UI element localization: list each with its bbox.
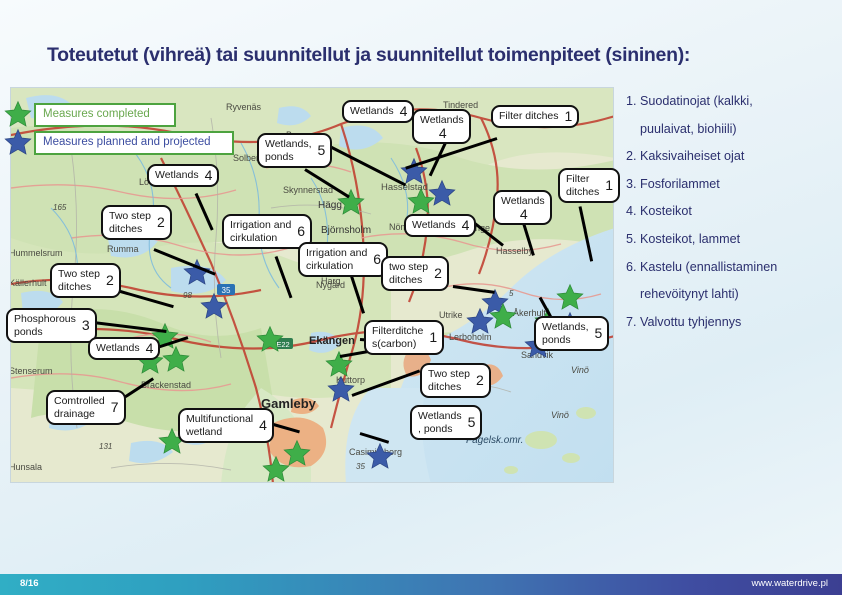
callout-text: Comtrolled drainage [54,395,105,420]
callout-number: 1 [563,110,573,123]
callout-phosphorous-ponds-3[interactable]: Phosphorous ponds 3 [6,308,97,343]
svg-text:Källerhult: Källerhult [11,278,47,288]
callout-number: 4 [398,105,408,118]
footer-bar: 8/16 www.waterdrive.pl [0,574,842,595]
callout-wetlands-ponds-5-b[interactable]: Wetlands, ponds 5 [534,316,609,351]
legend-measures-planned: Measures planned and projected [34,131,234,155]
callout-number: 5 [593,327,603,340]
callout-filterditches-carbon-1[interactable]: Filterditche s(carbon) 1 [364,320,444,355]
callout-text: Wetlands, ponds [542,321,589,346]
measure-number: 4. [626,204,637,218]
svg-text:98: 98 [183,291,192,300]
callout-irrigation-6-b[interactable]: Irrigation and cirkulation 6 [298,242,388,277]
measure-item-4: 4. Kosteikot [626,198,834,226]
callout-two-step-ditches-2-c[interactable]: two step ditches 2 [381,256,449,291]
green-star-marker[interactable] [340,203,368,236]
callout-text: Irrigation and cirkulation [230,219,291,244]
measure-text-cont: rehevöitynyt lahti) [626,281,834,309]
callout-text: Wetlands [350,105,394,118]
measure-item-6: 6. Kastelu (ennallistaminen rehevöitynyt… [626,254,834,309]
callout-number: 2 [104,274,114,287]
callout-text: Two step ditches [109,210,151,235]
callout-wetlands-4-f[interactable]: Wetlands 4 [88,337,160,360]
blue-star-marker[interactable] [200,292,228,325]
measure-item-3: 3. Fosforilammet [626,171,834,199]
callout-filter-ditches-1-a[interactable]: Filter ditches 1 [491,105,579,128]
callout-wetlands-4-b[interactable]: Wetlands 4 [412,109,471,144]
measure-number: 3. [626,177,637,191]
svg-text:Hasselby: Hasselby [496,246,534,256]
callout-number: 4 [437,127,447,140]
measure-number: 1. [626,94,637,108]
callout-wetlands-4-a[interactable]: Wetlands 4 [342,100,414,123]
callout-text: Filterditche s(carbon) [372,325,423,350]
callout-number: 1 [603,179,613,192]
callout-number: 6 [295,225,305,238]
callout-text: Two step ditches [428,368,470,393]
callout-number: 4 [460,219,470,232]
legend-measures-completed: Measures completed [34,103,176,127]
callout-number: 1 [427,331,437,344]
green-star-marker[interactable] [162,345,190,378]
measure-text-cont: puulaivat, biohiili) [626,116,834,144]
measure-text: Kosteikot [640,204,692,218]
callout-number: 4 [203,169,213,182]
callout-filter-ditches-1-b[interactable]: Filter ditches 1 [558,168,620,203]
callout-wetlands-4-c[interactable]: Wetlands 4 [147,164,219,187]
callout-two-step-ditches-2-b[interactable]: Two step ditches 2 [50,263,121,298]
callout-wetlands-ponds-5-c[interactable]: Wetlands , ponds 5 [410,405,482,440]
measure-list: 1. Suodatinojat (kalkki, puulaivat, bioh… [626,88,834,336]
page-title: Toteutetut (vihreä) tai suunnitellut ja … [47,44,807,67]
callout-number: 4 [257,419,267,432]
callout-number: 4 [518,208,528,221]
svg-text:Ryvenäs: Ryvenäs [226,102,262,112]
svg-text:Skynnerstad: Skynnerstad [283,185,333,195]
callout-number: 7 [109,401,119,414]
green-star-marker[interactable] [4,84,32,117]
callout-wetlands-ponds-5-a[interactable]: Wetlands, ponds 5 [257,133,332,168]
callout-number: 5 [466,416,476,429]
svg-text:35: 35 [356,462,365,471]
blue-star-marker[interactable] [366,442,394,475]
callout-number: 2 [432,267,442,280]
callout-number: 2 [474,374,484,387]
svg-text:Stenserum: Stenserum [11,366,53,376]
callout-text: Phosphorous ponds [14,313,76,338]
green-star-marker[interactable] [283,439,311,472]
measure-item-5: 5. Kosteikot, lammet [626,226,834,254]
measure-item-2: 2. Kaksivaiheiset ojat [626,143,834,171]
callout-text: Filter ditches [499,110,559,123]
svg-text:165: 165 [53,203,67,212]
callout-text: two step ditches [389,261,428,286]
measure-number: 5. [626,232,637,246]
callout-text: Wetlands , ponds [418,410,462,435]
svg-text:5: 5 [509,289,514,298]
callout-comtrolled-drainage-7[interactable]: Comtrolled drainage 7 [46,390,126,425]
callout-text: Wetlands [96,342,140,355]
callout-number: 6 [371,253,381,266]
svg-text:Utrike: Utrike [439,310,463,320]
measure-text: Fosforilammet [640,177,720,191]
callout-wetlands-4-d[interactable]: Wetlands 4 [404,214,476,237]
green-star-marker[interactable] [489,302,517,335]
callout-number: 3 [80,319,90,332]
callout-number: 2 [155,216,165,229]
measure-text: Kastelu (ennallistaminen [640,260,777,274]
callout-number: 5 [316,144,326,157]
svg-text:Vinö: Vinö [551,410,569,420]
callout-irrigation-6-a[interactable]: Irrigation and cirkulation 6 [222,214,312,249]
svg-text:Ekängen: Ekängen [309,335,355,347]
measure-text: Kaksivaiheiset ojat [640,149,744,163]
measure-item-1: 1. Suodatinojat (kalkki, puulaivat, bioh… [626,88,834,143]
svg-text:Nygård: Nygård [316,280,345,290]
svg-text:Vinö: Vinö [571,365,589,375]
callout-two-step-ditches-2-a[interactable]: Two step ditches 2 [101,205,172,240]
measure-text: Kosteikot, lammet [640,232,740,246]
callout-two-step-ditches-2-d[interactable]: Two step ditches 2 [420,363,491,398]
svg-text:Hunsala: Hunsala [11,462,42,472]
measure-text: Valvottu tyhjennys [640,315,741,329]
callout-wetlands-4-e[interactable]: Wetlands 4 [493,190,552,225]
callout-text: Wetlands [155,169,199,182]
callout-multifunctional-wetland-4[interactable]: Multifunctional wetland 4 [178,408,274,443]
callout-text: Filter ditches [566,173,599,198]
measure-number: 2. [626,149,637,163]
blue-star-legend [4,128,32,161]
callout-text: Multifunctional wetland [186,413,253,438]
svg-text:131: 131 [99,442,112,451]
measure-text: Suodatinojat (kalkki, [640,94,753,108]
green-star-marker[interactable] [256,325,284,358]
callout-text: Wetlands, ponds [265,138,312,163]
svg-text:Rumma: Rumma [107,244,139,254]
callout-text: Irrigation and cirkulation [306,247,367,272]
blue-star-marker[interactable] [130,425,158,458]
measure-number: 7. [626,315,637,329]
measure-number: 6. [626,260,637,274]
svg-text:Hummelsrum: Hummelsrum [11,248,63,258]
footer-url[interactable]: www.waterdrive.pl [751,578,828,589]
callout-text: Wetlands [412,219,456,232]
callout-text: Two step ditches [58,268,100,293]
measure-item-7: 7. Valvottu tyhjennys [626,309,834,337]
page-number: 8/16 [20,578,39,589]
callout-number: 4 [144,342,154,355]
